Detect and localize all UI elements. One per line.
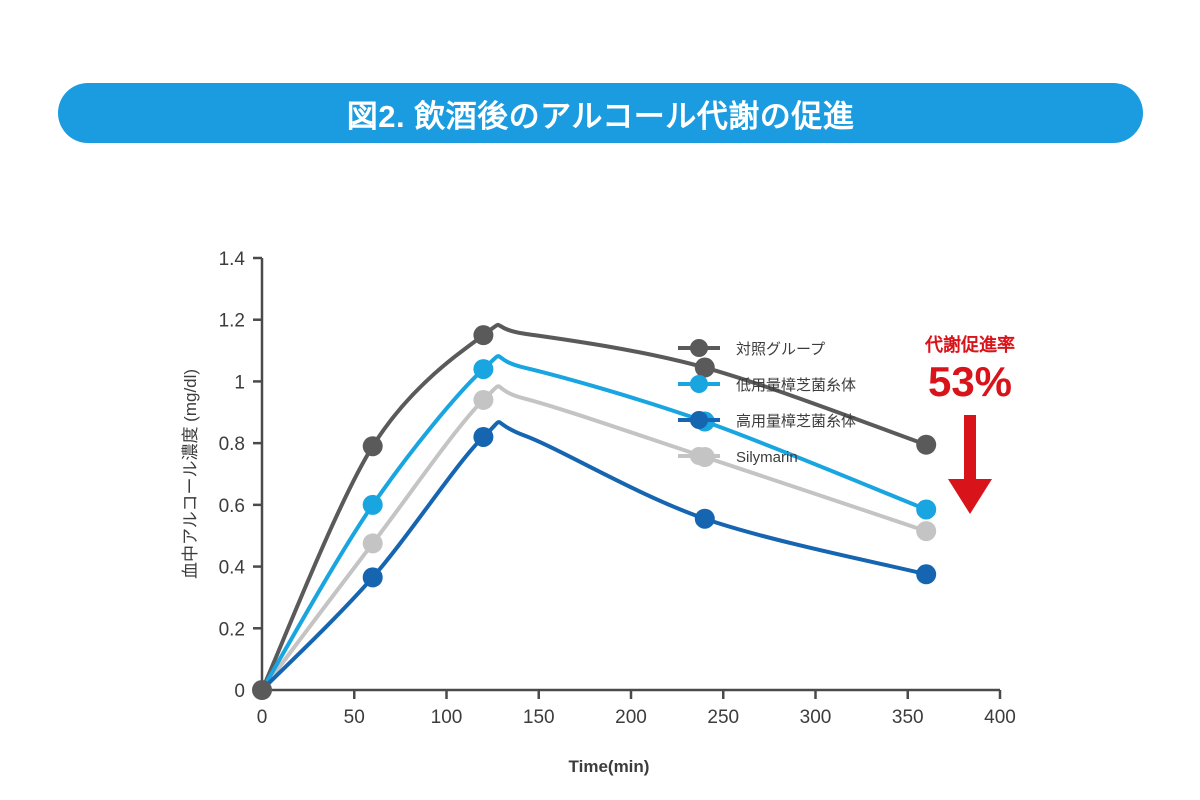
x-tick-label: 200 (615, 707, 647, 728)
legend-marker (690, 339, 708, 357)
x-axis-title: Time(min) (569, 757, 650, 776)
legend-item-4[interactable]: Silymarin (678, 447, 798, 466)
series-4 (262, 386, 926, 690)
legend-marker (690, 447, 708, 465)
y-tick-label: 0.2 (219, 619, 245, 640)
x-tick-label: 250 (707, 707, 739, 728)
y-tick-label: 0.6 (219, 496, 245, 517)
data-point[interactable] (473, 390, 493, 410)
data-point[interactable] (363, 533, 383, 553)
legend-label: 高用量樟芝菌糸体 (736, 412, 856, 430)
x-tick-label: 50 (344, 707, 365, 728)
y-axis-title-group: 血中アルコール濃度 (mg/dl) (181, 369, 200, 579)
x-tick-label: 400 (984, 707, 1016, 728)
legend-marker (690, 375, 708, 393)
data-point[interactable] (916, 499, 936, 519)
page-title: 図2. 飲酒後のアルコール代謝の促進 (347, 91, 855, 136)
data-point[interactable] (363, 567, 383, 587)
y-tick-label: 1.2 (219, 311, 245, 332)
legend-item-2[interactable]: 低用量樟芝菌糸体 (678, 375, 856, 394)
data-point[interactable] (695, 509, 715, 529)
x-tick-label: 0 (257, 707, 268, 728)
data-point[interactable] (695, 358, 715, 378)
x-tick-label: 350 (892, 707, 924, 728)
x-tick-label: 100 (431, 707, 463, 728)
legend-label: 低用量樟芝菌糸体 (736, 376, 856, 394)
data-point[interactable] (363, 495, 383, 515)
x-tick-label: 150 (523, 707, 555, 728)
legend-marker (690, 411, 708, 429)
legend-item-1[interactable]: 対照グループ (678, 339, 825, 358)
y-tick-label: 0.4 (219, 558, 246, 579)
chart-area: 00.20.40.60.811.21.405010015020025030035… (0, 150, 1200, 800)
x-tick-label: 300 (800, 707, 832, 728)
legend-label: 対照グループ (736, 341, 825, 358)
data-point[interactable] (473, 325, 493, 345)
y-axis-title: 血中アルコール濃度 (mg/dl) (181, 369, 200, 579)
y-tick-label: 0.8 (219, 434, 245, 455)
y-tick-label: 1 (234, 372, 245, 393)
data-point[interactable] (363, 436, 383, 456)
y-tick-label: 1.4 (219, 249, 246, 270)
data-point[interactable] (473, 427, 493, 447)
data-point[interactable] (916, 564, 936, 584)
title-banner: 図2. 飲酒後のアルコール代謝の促進 (58, 83, 1143, 143)
legend-label: Silymarin (736, 449, 798, 466)
data-point[interactable] (916, 435, 936, 455)
data-point[interactable] (473, 359, 493, 379)
data-point[interactable] (252, 680, 272, 700)
figure-page: 図2. 飲酒後のアルコール代謝の促進 00.20.40.60.811.21.40… (0, 0, 1200, 800)
series-line (262, 386, 926, 690)
data-point[interactable] (916, 521, 936, 541)
y-tick-label: 0 (234, 681, 245, 702)
line-chart: 00.20.40.60.811.21.405010015020025030035… (0, 150, 1200, 800)
